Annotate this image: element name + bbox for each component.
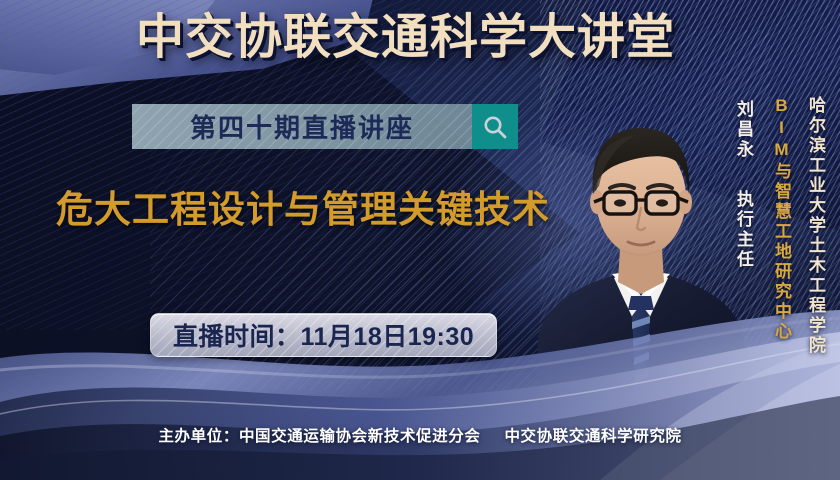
search-icon: [482, 114, 508, 140]
organizer-footer: 主办单位：中国交通运输协会新技术促进分会中交协联交通科学研究院: [0, 424, 840, 446]
broadcast-time-badge: 直播时间：11月18日19:30: [150, 313, 497, 357]
broadcast-time-label: 直播时间：11月18日19:30: [173, 317, 474, 353]
speaker-role: 执行主任: [731, 190, 756, 270]
speaker-research-center: BIM与智慧工地研究中心: [769, 96, 794, 342]
episode-label: 第四十期直播讲座: [190, 108, 414, 145]
lecture-title: 危大工程设计与管理关键技术: [56, 190, 550, 231]
page-title: 中交协联交通科学大讲堂: [136, 14, 675, 62]
episode-banner: 第四十期直播讲座: [132, 104, 472, 149]
speaker-organization: 哈尔滨工业大学土木工程学院: [803, 96, 828, 356]
live-lecture-poster: 中交协联交通科学大讲堂 第四十期直播讲座 危大工程设计与管理关键技术 直播时间：…: [0, 0, 840, 480]
poster-content: 中交协联交通科学大讲堂 第四十期直播讲座 危大工程设计与管理关键技术 直播时间：…: [0, 0, 840, 480]
organizer-primary: 主办单位：中国交通运输协会新技术促进分会: [158, 428, 480, 445]
speaker-name: 刘昌永: [731, 100, 756, 160]
organizer-secondary: 中交协联交通科学研究院: [504, 428, 681, 445]
search-button[interactable]: [472, 104, 518, 149]
